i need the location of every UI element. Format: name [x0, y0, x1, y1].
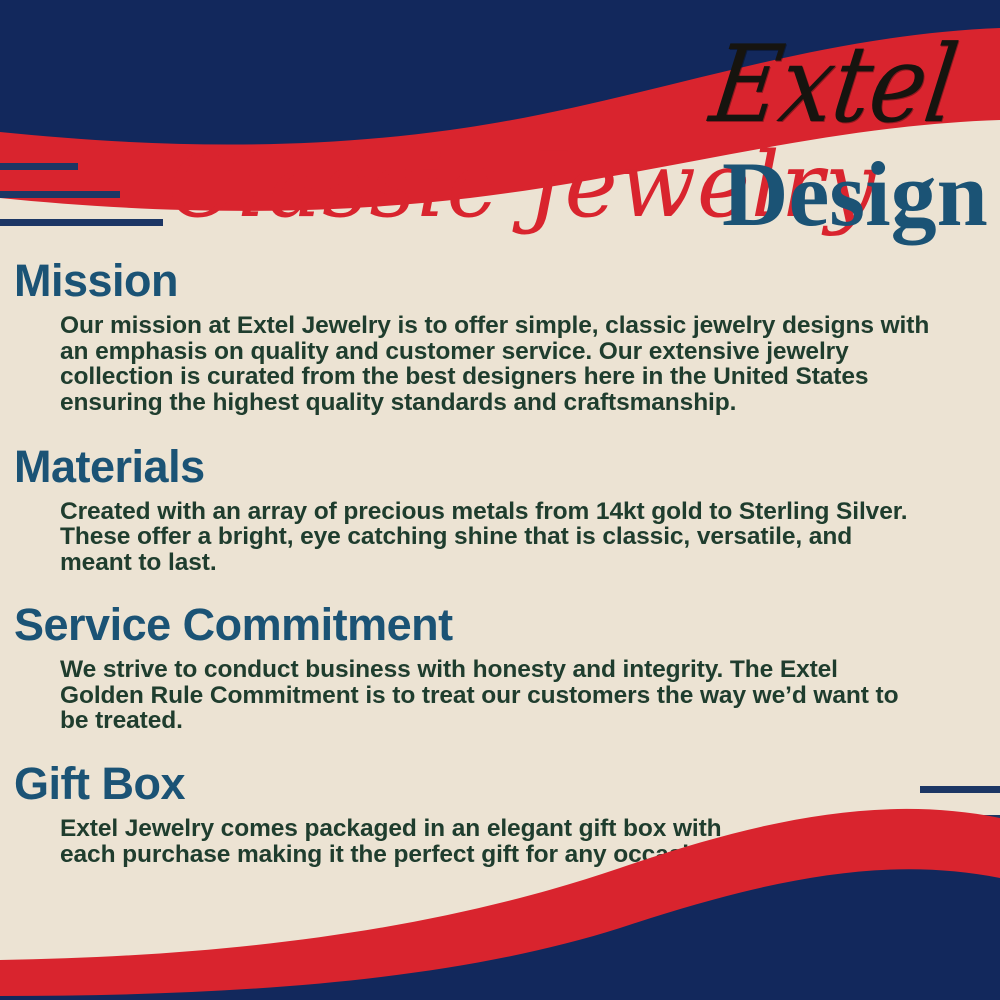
long-rule-icon [837, 844, 1000, 851]
bottom-wave-navy-band [0, 869, 1000, 1000]
brand-script-logo: Extel [705, 33, 963, 139]
medium-rule-icon [880, 815, 1000, 822]
section-service-commitment: Service Commitment We strive to conduct … [0, 576, 1000, 734]
section-body: Created with an array of precious metals… [0, 490, 920, 576]
section-mission: Mission Our mission at Extel Jewelry is … [0, 255, 1000, 416]
short-rule-icon [0, 163, 78, 170]
section-materials: Materials Created with an array of preci… [0, 416, 1000, 576]
section-body: Extel Jewelry comes packaged in an elega… [0, 807, 730, 867]
section-heading: Materials [0, 443, 1000, 490]
medium-rule-icon [0, 191, 120, 198]
section-heading: Service Commitment [0, 601, 1000, 648]
sections-container: Mission Our mission at Extel Jewelry is … [0, 255, 1000, 867]
right-rule-group [780, 786, 1000, 851]
long-rule-icon [0, 219, 163, 226]
section-body: Our mission at Extel Jewelry is to offer… [0, 304, 930, 415]
poster-canvas: Extel Classic Jewelry Design Mission Our… [0, 0, 1000, 1000]
section-heading: Mission [0, 257, 1000, 304]
headline-design: Design [722, 148, 988, 240]
section-body: We strive to conduct business with hones… [0, 648, 910, 734]
poster-header: Extel Classic Jewelry Design [0, 0, 1000, 255]
short-rule-icon [920, 786, 1000, 793]
